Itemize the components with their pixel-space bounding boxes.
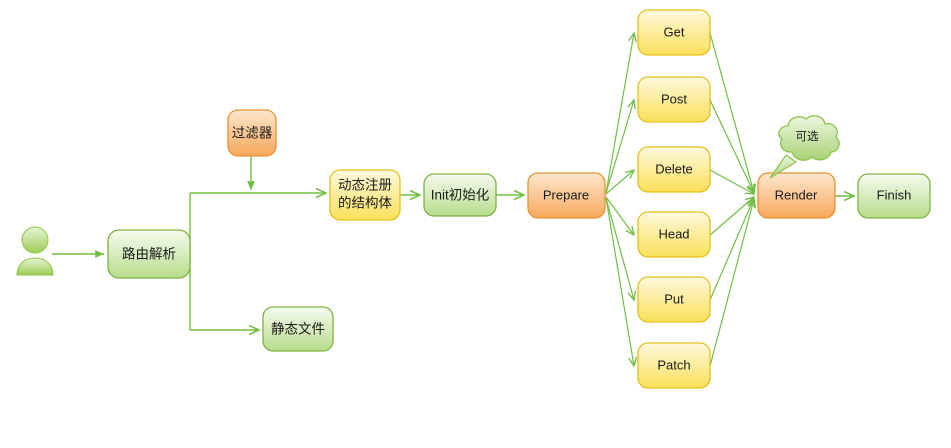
node-filter[interactable]: 过滤器 — [228, 110, 276, 156]
node-patch[interactable]: Patch — [638, 343, 710, 388]
node-delete-shape[interactable] — [638, 147, 710, 192]
cloud-shape-icon[interactable] — [779, 116, 839, 160]
node-route[interactable]: 路由解析 — [108, 230, 190, 278]
edge-patch-to-render — [710, 199, 754, 366]
node-get[interactable]: Get — [638, 10, 710, 55]
node-dynamic-register[interactable]: 动态注册 的结构体 — [330, 170, 400, 220]
node-layer: 路由解析 过滤器 静态文件 动态注册 的结构体 Init初始化 — [108, 10, 930, 388]
node-init[interactable]: Init初始化 — [424, 174, 496, 216]
optional-note-cloud[interactable]: 可选 — [770, 116, 839, 178]
node-init-shape[interactable] — [424, 174, 496, 216]
node-prepare[interactable]: Prepare — [528, 173, 605, 218]
node-finish[interactable]: Finish — [858, 174, 930, 218]
edge-prepare-to-patch — [606, 198, 634, 366]
node-post-shape[interactable] — [638, 77, 710, 122]
node-head-shape[interactable] — [638, 212, 710, 257]
node-post[interactable]: Post — [638, 77, 710, 122]
node-render-shape[interactable] — [758, 173, 835, 218]
node-static-file-shape[interactable] — [263, 307, 333, 351]
node-finish-shape[interactable] — [858, 174, 930, 218]
edge-delete-to-render — [710, 170, 754, 194]
node-dynamic-register-shape[interactable] — [330, 170, 400, 220]
node-head[interactable]: Head — [638, 212, 710, 257]
user-actor — [17, 227, 53, 275]
edge-head-to-render — [710, 197, 754, 235]
node-put[interactable]: Put — [638, 277, 710, 322]
edge-prepare-to-delete — [606, 170, 634, 194]
actor-body-icon — [17, 258, 53, 275]
flowchart-svg: 路由解析 过滤器 静态文件 动态注册 的结构体 Init初始化 — [0, 0, 951, 448]
actor-head-icon — [22, 227, 48, 253]
node-filter-shape[interactable] — [228, 110, 276, 156]
node-get-shape[interactable] — [638, 10, 710, 55]
node-patch-shape[interactable] — [638, 343, 710, 388]
flowchart-canvas: 路由解析 过滤器 静态文件 动态注册 的结构体 Init初始化 — [0, 0, 951, 448]
node-static-file[interactable]: 静态文件 — [263, 307, 333, 351]
node-render[interactable]: Render — [758, 173, 835, 218]
node-put-shape[interactable] — [638, 277, 710, 322]
edge-prepare-to-head — [606, 197, 634, 235]
node-prepare-shape[interactable] — [528, 173, 605, 218]
node-delete[interactable]: Delete — [638, 147, 710, 192]
node-route-shape[interactable] — [108, 230, 190, 278]
